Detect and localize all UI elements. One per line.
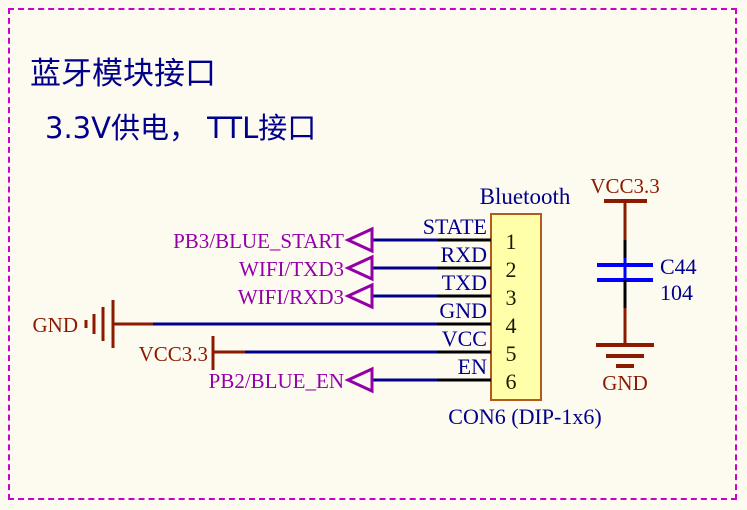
net-label-2[interactable]: WIFI/TXD3	[239, 257, 344, 281]
pin-signal-label-4: GND	[439, 298, 487, 323]
pin-signal-label-5: VCC	[442, 326, 487, 351]
pin-number-3: 3	[506, 285, 517, 310]
net-label-1[interactable]: PB3/BLUE_START	[173, 229, 344, 253]
pin-number-5: 5	[506, 341, 517, 366]
net-label-4[interactable]: GND	[33, 313, 79, 337]
connector-footprint-label: CON6 (DIP-1x6)	[448, 404, 601, 429]
capacitor-branch: VCC3.3 C44 104 GND	[590, 174, 696, 395]
port-arrow-icon-2[interactable]	[348, 257, 372, 279]
capacitor-value-label[interactable]: 104	[660, 280, 693, 305]
net-label-5[interactable]: VCC3.3	[139, 342, 208, 366]
capacitor-top-rail-label[interactable]: VCC3.3	[590, 174, 659, 198]
net-label-6[interactable]: PB2/BLUE_EN	[209, 369, 344, 393]
port-arrow-icon-3[interactable]	[348, 285, 372, 307]
schematic-drawing: Bluetooth CON6 (DIP-1x6) STATE PB3/BLUE_…	[0, 0, 747, 510]
schematic-canvas: 蓝牙模块接口 3.3V供电， TTL接口 Bluetooth CON6 (DIP…	[0, 0, 747, 510]
port-arrow-icon-1[interactable]	[348, 229, 372, 251]
connector-name-label: Bluetooth	[480, 184, 571, 209]
net-label-3[interactable]: WIFI/RXD3	[238, 285, 344, 309]
ground-symbol-icon-bottom[interactable]	[596, 345, 654, 366]
pin-signal-label-1: STATE	[423, 214, 487, 239]
pin-number-4: 4	[506, 313, 517, 338]
pin-signal-label-3: TXD	[442, 270, 487, 295]
capacitor-designator-label[interactable]: C44	[660, 254, 697, 279]
pin-signal-label-6: EN	[458, 354, 487, 379]
pin-signal-label-2: RXD	[441, 242, 487, 267]
pin-number-6: 6	[506, 369, 517, 394]
ground-symbol-icon-left[interactable]	[86, 300, 113, 348]
port-arrow-icon-6[interactable]	[348, 369, 372, 391]
pin-number-2: 2	[506, 257, 517, 282]
pin-row-6: EN PB2/BLUE_EN 6	[209, 354, 517, 394]
pin-number-1: 1	[506, 229, 517, 254]
capacitor-bottom-rail-label[interactable]: GND	[602, 371, 648, 395]
